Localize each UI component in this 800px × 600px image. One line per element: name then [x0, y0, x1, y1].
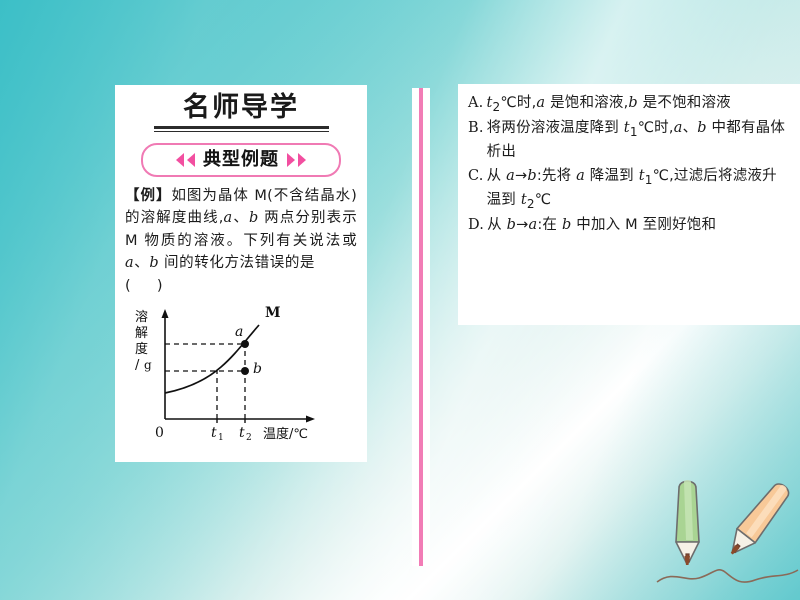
answer-options-panel: A. t2℃时,a 是饱和溶液,b 是不饱和溶液 B. 将两份溶液温度降到 t1…: [458, 84, 800, 325]
question-line-4c: 间的转: [159, 255, 210, 271]
data-point-b: [241, 367, 249, 375]
center-divider: [412, 88, 430, 566]
y-axis-label-char-3: /: [135, 358, 140, 373]
xtick-label-t1: t: [211, 425, 217, 441]
var-a-ref-2: a: [125, 255, 134, 271]
option-b-key: B.: [468, 117, 487, 163]
var-b-ref-1: b: [249, 210, 258, 226]
option-b-text: 将两份溶液温度降到 t1℃时,a、b 中都有晶体析出: [487, 117, 788, 163]
pencil-decoration: [655, 470, 800, 600]
title-underline-thick: [154, 126, 329, 129]
y-axis-label-unit: g: [144, 358, 152, 372]
xtick-sub-1: 1: [218, 433, 224, 441]
double-chevron-right-icon: [284, 152, 310, 168]
question-text: 【例】如图为晶体 M(不含结晶水)的溶解度曲线,a、b 两点分别表示 M 物质的…: [125, 185, 357, 297]
curve-label-M: M: [265, 305, 281, 321]
solubility-curve-figure: 溶 解 度 / g M a: [123, 301, 359, 441]
question-line-5: 化方法错误的是: [209, 255, 315, 271]
y-axis-label-char-0: 溶: [135, 310, 148, 325]
option-a[interactable]: A. t2℃时,a 是饱和溶液,b 是不饱和溶液: [468, 92, 788, 116]
origin-label: 0: [155, 425, 164, 441]
question-line-2c: 两: [258, 210, 279, 226]
pencil-orange-icon: [723, 479, 794, 561]
data-point-b-label: b: [253, 361, 262, 377]
page-title: 名师导学: [123, 93, 359, 123]
title-underline: [154, 126, 329, 132]
option-c[interactable]: C. 从 a→b:先将 a 降温到 t1℃,过滤后将滤液升温到 t2℃: [468, 165, 788, 213]
option-d[interactable]: D. 从 b→a:在 b 中加入 M 至刚好饱和: [468, 214, 788, 236]
y-axis-arrow: [162, 309, 169, 318]
xtick-label-t2: t: [239, 425, 245, 441]
y-axis-label-char-2: 度: [135, 341, 148, 357]
x-axis-arrow: [306, 416, 315, 423]
option-d-key: D.: [468, 214, 487, 236]
data-point-a-label: a: [235, 324, 243, 340]
option-a-key: A.: [468, 92, 486, 116]
squiggle-line: [657, 570, 798, 582]
title-underline-thin: [154, 131, 329, 132]
question-line-1: 如图为晶体 M(不含结: [171, 188, 320, 204]
lesson-panel: 名师导学 典型例题 【例】如图为晶体 M(不含结晶水)的溶解度曲线,a、b 两点…: [115, 85, 367, 462]
option-a-text: t2℃时,a 是饱和溶液,b 是不饱和溶液: [486, 92, 788, 116]
question-sep-1: 、: [232, 210, 249, 226]
x-axis-label: 温度/℃: [263, 426, 308, 441]
var-b-ref-2: b: [149, 255, 158, 271]
option-c-key: C.: [468, 165, 487, 213]
question-sep-2: 、: [134, 255, 150, 271]
option-b[interactable]: B. 将两份溶液温度降到 t1℃时,a、b 中都有晶体析出: [468, 117, 788, 163]
section-banner: 典型例题: [141, 143, 341, 177]
option-d-text: 从 b→a:在 b 中加入 M 至刚好饱和: [487, 214, 788, 236]
option-c-text: 从 a→b:先将 a 降温到 t1℃,过滤后将滤液升温到 t2℃: [487, 165, 788, 213]
section-banner-label: 典型例题: [203, 151, 279, 169]
question-tag: 【例】: [125, 188, 171, 204]
answer-paren-open: (: [125, 278, 131, 294]
question-line-4a: 下列有关说法或: [243, 233, 357, 249]
data-point-a: [241, 340, 249, 348]
double-chevron-left-icon: [172, 152, 198, 168]
pencil-green-icon: [676, 480, 699, 565]
answer-paren-close: ): [157, 278, 163, 294]
y-axis-label-char-1: 解: [135, 326, 148, 341]
xtick-sub-2: 2: [246, 433, 252, 441]
